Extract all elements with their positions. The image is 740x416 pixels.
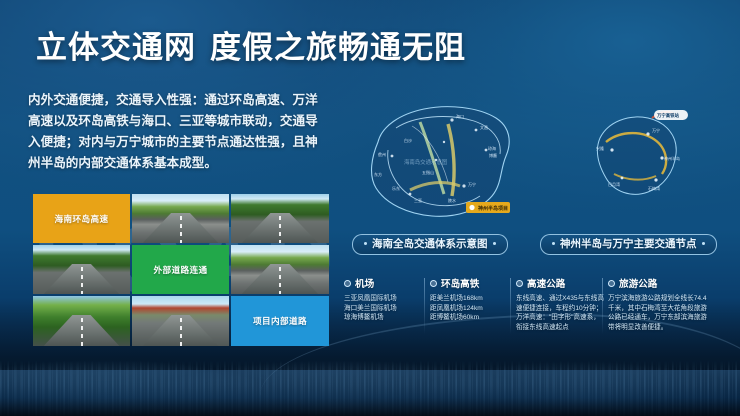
collage-label-text: 海南环岛高速 — [33, 213, 130, 225]
collage-photo-avenue-2 — [231, 245, 329, 294]
info-line: 琼海博鳌机场 — [344, 313, 426, 323]
info-column-airport: 机场 三亚凤凰国际机场 海口美兰国际机场 琼海博鳌机场 — [344, 276, 430, 346]
hainan-map-svg: 海口文昌 琼海博鳌 万宁陵水 三亚儋州 东方五指山 白沙乐东 海南岛交通示意图 … — [352, 98, 524, 226]
info-line: 距凤凰机场124km — [430, 304, 512, 314]
info-line: 距美兰机场168km — [430, 294, 512, 304]
collage-photo-avenue-1 — [33, 245, 130, 294]
collage-photo-highway-2 — [231, 194, 329, 243]
info-line: 万宁滨海旅游公路规划全线长74.4千米，其中石梅湾至大花角段旅游公路已经通车，万… — [608, 294, 712, 332]
column-divider — [510, 278, 511, 334]
hainan-caption-text: 海南全岛交通体系示意图 — [372, 238, 488, 250]
lead-paragraph: 内外交通便捷，交通导入性强：通过环岛高速、万洋高速以及环岛高铁与海口、三亚等城市… — [28, 90, 320, 174]
info-header-text: 环岛高铁 — [441, 279, 479, 290]
shenzhou-peninsula-map: 兴隆万宁 神州半岛石梅湾 日月湾 万宁高铁站 — [556, 98, 696, 226]
caption-dot-right-icon — [702, 242, 705, 245]
shenzhou-caption-text: 神州半岛与万宁主要交通节点 — [560, 238, 697, 250]
info-line: 距博鳌机场60km — [430, 313, 512, 323]
svg-text:文昌: 文昌 — [480, 124, 488, 130]
bullet-dot-icon — [608, 280, 615, 287]
svg-text:神州半岛: 神州半岛 — [664, 155, 680, 161]
hainan-map-watermark: 海南岛交通示意图 — [404, 158, 447, 166]
waterfront-band — [0, 370, 740, 416]
svg-text:乐东: 乐东 — [392, 185, 400, 191]
info-column-body: 三亚凤凰国际机场 海口美兰国际机场 琼海博鳌机场 — [344, 294, 426, 323]
collage-photo-park-road — [33, 296, 130, 346]
caption-dot-right-icon — [493, 242, 496, 245]
svg-text:儋州: 儋州 — [378, 151, 386, 157]
photo-collage: 海南环岛高速 外部道路连通 项目内部道路 — [33, 194, 325, 342]
collage-label-text: 外部道路连通 — [132, 264, 229, 276]
collage-label-project-internal-road: 项目内部道路 — [231, 296, 329, 346]
info-header-text: 旅游公路 — [619, 279, 657, 290]
svg-text:万宁: 万宁 — [468, 181, 476, 187]
bullet-dot-icon — [430, 280, 437, 287]
bullet-dot-icon — [344, 280, 351, 287]
hainan-island-map: 海口文昌 琼海博鳌 万宁陵水 三亚儋州 东方五指山 白沙乐东 海南岛交通示意图 … — [352, 98, 524, 226]
page-title: 立体交通网度假之旅畅通无阻 — [36, 22, 466, 67]
page-title-part2: 度假之旅畅通无阻 — [210, 30, 466, 65]
svg-text:白沙: 白沙 — [404, 137, 412, 143]
info-column-ring-high-speed-rail: 环岛高铁 距美兰机场168km 距凤凰机场124km 距博鳌机场60km — [430, 276, 516, 346]
hainan-map-caption: 海南全岛交通体系示意图 — [352, 234, 508, 255]
info-column-expressway: 高速公路 东线高速、通过X435与东线高速便捷连接，车程约10分钟；万洋高速："… — [516, 276, 608, 346]
info-column-header: 机场 — [344, 276, 426, 290]
info-column-tourist-highway: 旅游公路 万宁滨海旅游公路规划全线长74.4千米，其中石梅湾至大花角段旅游公路已… — [608, 276, 716, 346]
column-divider — [602, 278, 603, 334]
svg-text:博鳌: 博鳌 — [489, 152, 497, 158]
bullet-dot-icon — [516, 280, 523, 287]
collage-photo-highway-1 — [132, 194, 229, 243]
svg-text:琼海: 琼海 — [488, 145, 496, 151]
svg-text:东方: 东方 — [374, 171, 382, 177]
info-column-body: 东线高速、通过X435与东线高速便捷连接，车程约10分钟；万洋高速："田字形"高… — [516, 294, 604, 332]
collage-label-text: 项目内部道路 — [231, 315, 329, 327]
info-header-text: 机场 — [355, 279, 374, 290]
info-line: 东线高速、通过X435与东线高速便捷连接，车程约10分钟；万洋高速："田字形"高… — [516, 294, 604, 332]
info-header-text: 高速公路 — [527, 279, 565, 290]
page-title-part1: 立体交通网 — [36, 30, 196, 65]
info-line: 海口美兰国际机场 — [344, 304, 426, 314]
shenzhou-map-caption: 神州半岛与万宁主要交通节点 — [540, 234, 717, 255]
info-column-body: 距美兰机场168km 距凤凰机场124km 距博鳌机场60km — [430, 294, 512, 323]
svg-text:海口: 海口 — [456, 113, 464, 119]
svg-text:兴隆: 兴隆 — [596, 145, 604, 151]
transport-info-columns: 机场 三亚凤凰国际机场 海口美兰国际机场 琼海博鳌机场 环岛高铁 距美兰机场16… — [344, 276, 716, 346]
svg-text:五指山: 五指山 — [422, 169, 434, 175]
info-column-header: 环岛高铁 — [430, 276, 512, 290]
collage-label-hainan-ring-expressway: 海南环岛高速 — [33, 194, 130, 243]
info-column-header: 高速公路 — [516, 276, 604, 290]
svg-text:日月湾: 日月湾 — [608, 181, 620, 187]
shenzhou-rail-station-marker: 万宁高铁站 — [654, 110, 688, 120]
project-marker-hainan: 神州半岛项目 — [466, 202, 510, 213]
svg-text:神州半岛项目: 神州半岛项目 — [478, 205, 508, 212]
shenzhou-map-svg: 兴隆万宁 神州半岛石梅湾 日月湾 万宁高铁站 — [556, 98, 696, 226]
svg-text:万宁: 万宁 — [652, 127, 660, 133]
info-column-body: 万宁滨海旅游公路规划全线长74.4千米，其中石梅湾至大花角段旅游公路已经通车，万… — [608, 294, 712, 332]
svg-text:三亚: 三亚 — [414, 198, 422, 203]
svg-text:万宁高铁站: 万宁高铁站 — [656, 112, 680, 119]
caption-dot-left-icon — [364, 242, 367, 245]
info-column-header: 旅游公路 — [608, 276, 712, 290]
svg-text:石梅湾: 石梅湾 — [648, 185, 660, 191]
info-line: 三亚凤凰国际机场 — [344, 294, 426, 304]
slide-root: 立体交通网度假之旅畅通无阻 内外交通便捷，交通导入性强：通过环岛高速、万洋高速以… — [0, 0, 740, 416]
svg-text:陵水: 陵水 — [448, 197, 456, 203]
column-divider — [424, 278, 425, 334]
caption-dot-left-icon — [552, 242, 555, 245]
collage-photo-flag-road — [132, 296, 229, 346]
collage-label-external-road-connection: 外部道路连通 — [132, 245, 229, 294]
